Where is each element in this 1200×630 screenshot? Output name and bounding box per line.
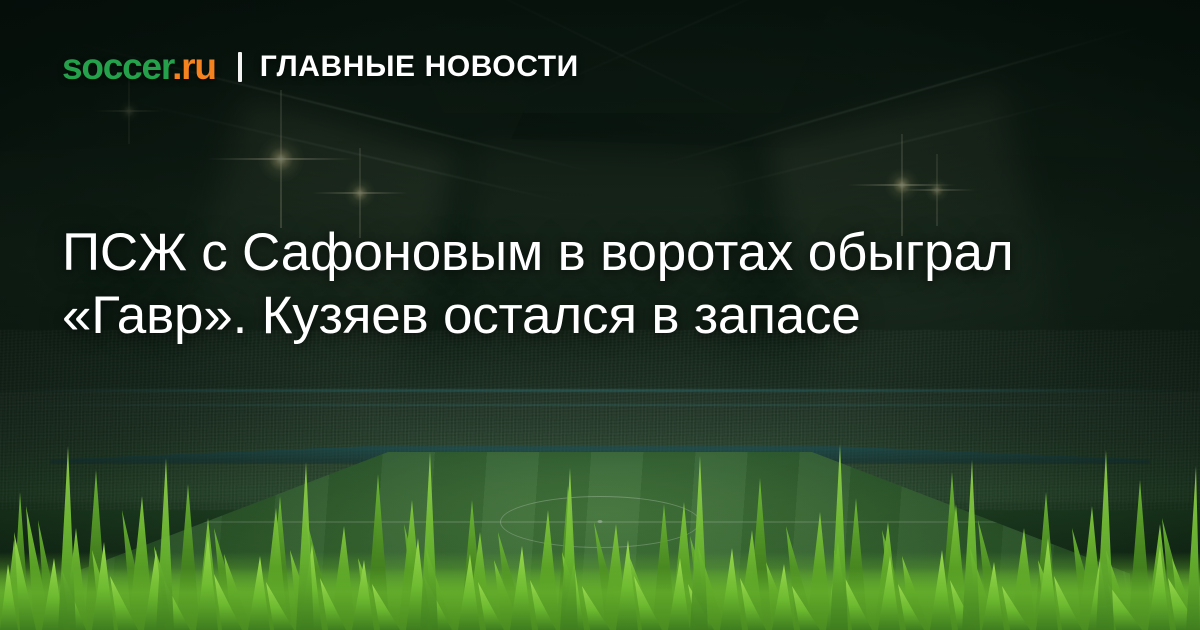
article-headline: ПСЖ с Сафоновым в воротах обыграл «Гавр»… [62, 222, 1072, 347]
card-header: soccer.ru ГЛАВНЫЕ НОВОСТИ [62, 48, 579, 85]
logo-text-ru: .ru [172, 46, 216, 87]
section-label: ГЛАВНЫЕ НОВОСТИ [260, 52, 579, 82]
logo-text-soccer: soccer [62, 46, 172, 87]
header-separator [238, 52, 242, 82]
site-logo[interactable]: soccer.ru [62, 48, 216, 85]
social-share-card: soccer.ru ГЛАВНЫЕ НОВОСТИ ПСЖ с Сафоновы… [0, 0, 1200, 630]
